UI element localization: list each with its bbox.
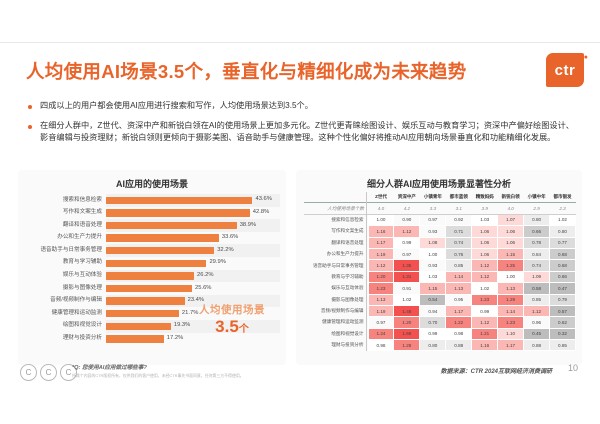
- average-cell: 3.1: [446, 203, 472, 214]
- table-cell: 1.22: [446, 317, 472, 328]
- table-title: 细分人群AI应用使用场景显著性分析: [296, 177, 582, 190]
- table-cell: 1.16: [368, 226, 394, 237]
- bar-label: 音频/视频制作与编辑: [18, 298, 106, 304]
- table-cell: 1.06: [472, 248, 498, 259]
- table-cell: 1.12: [368, 260, 394, 271]
- table-row: 搜索和信息检索1.000.900.970.921.031.070.801.02: [304, 214, 576, 225]
- table-cell: 1.09: [524, 271, 550, 282]
- table-cell: 0.80: [420, 340, 446, 351]
- table-cell: 0.96: [524, 317, 550, 328]
- table-cell: 1.14: [446, 271, 472, 282]
- bar-track: 32.2%: [106, 244, 286, 257]
- table-cell: 1.06: [498, 226, 524, 237]
- table-cell: 1.28: [394, 340, 420, 351]
- table-cell: 1.58: [394, 328, 420, 339]
- table-cell: 0.85: [446, 260, 472, 271]
- table-cell: 0.98: [368, 340, 394, 351]
- bar-label: 办公和生产力提升: [18, 235, 106, 241]
- table-cell: 0.32: [550, 328, 576, 339]
- table-cell: 0.68: [550, 260, 576, 271]
- table-cell: 0.90: [394, 214, 420, 225]
- bar: [106, 323, 171, 330]
- bar-row: 搜索和信息检索43.6%: [18, 194, 286, 207]
- bar-value: 17.2%: [167, 335, 183, 341]
- row-label: 绘图和视觉设计: [304, 328, 368, 339]
- bar-track: 26.2%: [106, 270, 286, 283]
- bar-value: 42.8%: [253, 209, 269, 215]
- table-cell: 1.21: [472, 328, 498, 339]
- bar-label: 翻译和语音处理: [18, 223, 106, 229]
- bar-row: 翻译和语音处理38.9%: [18, 219, 286, 232]
- bar-label: 语音助手与日常事务管理: [18, 248, 106, 254]
- table-cell: 0.57: [550, 305, 576, 316]
- table-cell: 0.95: [446, 294, 472, 305]
- table-cell: 0.74: [524, 260, 550, 271]
- table-row: 摄影与图像处理1.131.020.540.951.231.290.850.79: [304, 294, 576, 305]
- table-cell: 1.16: [472, 340, 498, 351]
- table-cell: 1.06: [498, 237, 524, 248]
- bar-value: 38.9%: [240, 222, 256, 228]
- table-cell: 0.99: [420, 328, 446, 339]
- table-cell: 1.13: [368, 294, 394, 305]
- bar-chart: 搜索和信息检索43.6%写作和文案生成42.8%翻译和语音处理38.9%办公和生…: [18, 194, 286, 362]
- table-row: 教育与学习辅助1.201.311.031.141.121.001.090.66: [304, 271, 576, 282]
- table-cell: 0.66: [550, 271, 576, 282]
- average-cell: 4.2: [394, 203, 420, 214]
- table-cell: 1.12: [394, 226, 420, 237]
- table-cell: 1.06: [472, 237, 498, 248]
- table-cell: 0.58: [524, 283, 550, 294]
- survey-question: *Q: 您使用AI应用做过哪些事?: [72, 363, 147, 371]
- row-label: 教育与学习辅助: [304, 271, 368, 282]
- table-cell: 0.88: [446, 340, 472, 351]
- column-header: 小镇中年: [524, 192, 550, 203]
- callout-label: 人均使用场景: [182, 302, 282, 317]
- table-wrapper: Z世代资深中产小镇青年都市蓝领精致妈妈新锐白领小镇中年都市银发人均使用场景个数4…: [304, 192, 576, 351]
- average-cell: 2.3: [550, 203, 576, 214]
- table-cell: 0.45: [524, 328, 550, 339]
- ctr-logo: ctr ●: [546, 53, 588, 91]
- bar: [106, 209, 250, 216]
- bar: [106, 285, 192, 292]
- column-header: 资深中产: [394, 192, 420, 203]
- column-header: 都市银发: [550, 192, 576, 203]
- table-cell: 0.79: [550, 294, 576, 305]
- bar: [106, 247, 214, 254]
- row-label: 娱乐与互动体验: [304, 283, 368, 294]
- bar-label: 写作和文案生成: [18, 210, 106, 216]
- bar-label: 教育与学习辅助: [18, 260, 106, 266]
- table-cell: 0.70: [420, 317, 446, 328]
- table-cell: 1.00: [498, 271, 524, 282]
- table-cell: 0.93: [420, 226, 446, 237]
- bar-track: 42.8%: [106, 207, 286, 220]
- bar-value: 29.9%: [209, 259, 225, 265]
- column-header: 精致妈妈: [472, 192, 498, 203]
- bar-label: 娱乐与互动体验: [18, 273, 106, 279]
- table-row: 理财与投资分析0.981.280.800.881.161.170.880.85: [304, 340, 576, 351]
- table-cell: 1.06: [472, 226, 498, 237]
- table-cell: 0.97: [394, 248, 420, 259]
- table-row: 语音助手与日常事务管理1.121.350.930.851.121.250.740…: [304, 260, 576, 271]
- table-cell: 0.99: [472, 305, 498, 316]
- table-cell: 0.68: [550, 248, 576, 259]
- table-cell: 1.03: [472, 214, 498, 225]
- table-cell: 1.23: [368, 283, 394, 294]
- table-cell: 1.07: [498, 214, 524, 225]
- significance-table: Z世代资深中产小镇青年都市蓝领精致妈妈新锐白领小镇中年都市银发人均使用场景个数4…: [304, 192, 576, 351]
- table-header-row: Z世代资深中产小镇青年都市蓝领精致妈妈新锐白领小镇中年都市银发: [304, 192, 576, 203]
- bar-value: 33.6%: [222, 234, 238, 240]
- table-cell: 0.47: [550, 283, 576, 294]
- bullet-list: 四成以上的用户都会使用AI应用进行搜索和写作，人均使用场景达到3.5个。 在细分…: [26, 100, 574, 152]
- row-label: 办公和生产力提升: [304, 248, 368, 259]
- table-cell: 1.12: [472, 260, 498, 271]
- page-title: 人均使用AI场景3.5个，垂直化与精细化成为未来趋势: [26, 58, 467, 84]
- table-cell: 0.62: [550, 317, 576, 328]
- column-header: Z世代: [368, 192, 394, 203]
- table-cell: 1.29: [498, 294, 524, 305]
- table-cell: 1.12: [472, 271, 498, 282]
- bar-label: 搜索和信息检索: [18, 198, 106, 204]
- bar-row: 摄影与图像处理25.6%: [18, 282, 286, 295]
- table-cell: 1.15: [420, 283, 446, 294]
- table-cell: 0.98: [446, 328, 472, 339]
- table-cell: 1.17: [498, 340, 524, 351]
- table-cell: 1.19: [368, 248, 394, 259]
- bar: [106, 297, 185, 304]
- column-header: 小镇青年: [420, 192, 446, 203]
- table-cell: 0.74: [446, 237, 472, 248]
- table-cell: 1.02: [472, 283, 498, 294]
- table-cell: 1.10: [498, 328, 524, 339]
- bar-track: 25.6%: [106, 282, 286, 295]
- bar: [106, 335, 164, 342]
- callout-unit: 个: [239, 324, 249, 335]
- table-cell: 1.13: [446, 283, 472, 294]
- table-cell: 1.15: [498, 248, 524, 259]
- average-cell: 2.9: [524, 203, 550, 214]
- table-cell: 0.97: [420, 214, 446, 225]
- table-cell: 0.99: [394, 237, 420, 248]
- table-cell: 0.91: [394, 283, 420, 294]
- bar-label: 摄影与图像处理: [18, 286, 106, 292]
- table-divider: [366, 192, 367, 351]
- table-cell: 0.80: [550, 226, 576, 237]
- bar-value: 32.2%: [217, 247, 233, 253]
- bar-label: 健康管理和运动监测: [18, 311, 106, 317]
- bar: [106, 234, 219, 241]
- table-row: 音频/视频制作与编辑1.191.480.941.170.991.141.120.…: [304, 305, 576, 316]
- bar-track: 29.9%: [106, 257, 286, 270]
- bullet-text: 在细分人群中，Z世代、资深中产和新锐白领在AI的使用场景上更加多元化。Z世代更青…: [40, 120, 574, 145]
- average-cell: 4.0: [368, 203, 394, 214]
- table-cell: 0.66: [524, 226, 550, 237]
- bar: [106, 222, 237, 229]
- table-cell: 1.02: [394, 294, 420, 305]
- bar-value: 43.6%: [255, 196, 271, 202]
- table-cell: 1.20: [368, 271, 394, 282]
- table-cell: 0.54: [420, 294, 446, 305]
- bar-value: 25.6%: [195, 285, 211, 291]
- column-header: 都市蓝领: [446, 192, 472, 203]
- table-cell: 1.23: [498, 317, 524, 328]
- table-cell: 1.17: [368, 237, 394, 248]
- table-cell: 1.19: [368, 305, 394, 316]
- table-cell: 1.25: [498, 260, 524, 271]
- table-cell: 1.24: [368, 328, 394, 339]
- bar-label: 绘图和视觉设计: [18, 323, 106, 329]
- table-cell: 0.93: [420, 260, 446, 271]
- row-label: 写作和文案生成: [304, 226, 368, 237]
- callout-number: 3.5: [215, 317, 239, 336]
- list-item: 在细分人群中，Z世代、资深中产和新锐白领在AI的使用场景上更加多元化。Z世代更青…: [26, 120, 574, 145]
- page-number: 10: [568, 363, 578, 373]
- bar-row: 语音助手与日常事务管理32.2%: [18, 244, 286, 257]
- table-cell: 0.92: [446, 214, 472, 225]
- table-cell: 1.12: [472, 317, 498, 328]
- bullet-text: 四成以上的用户都会使用AI应用进行搜索和写作，人均使用场景达到3.5个。: [40, 100, 574, 113]
- table-cell: 0.88: [524, 340, 550, 351]
- logo-registered-mark: ●: [584, 54, 588, 61]
- table-cell: 0.94: [420, 305, 446, 316]
- slide: ctr ● 人均使用AI场景3.5个，垂直化与精细化成为未来趋势 四成以上的用户…: [0, 0, 600, 424]
- table-cell: 0.84: [524, 248, 550, 259]
- bar-row: 办公和生产力提升33.6%: [18, 232, 286, 245]
- table-cell: 1.23: [472, 294, 498, 305]
- row-label: 理财与投资分析: [304, 340, 368, 351]
- table-cell: 1.48: [394, 305, 420, 316]
- table-corner: [304, 192, 368, 203]
- significance-table-panel: 细分人群AI应用使用场景显著性分析 Z世代资深中产小镇青年都市蓝领精致妈妈新锐白…: [296, 170, 582, 365]
- table-cell: 0.80: [524, 214, 550, 225]
- copyright-icon: C: [40, 364, 57, 381]
- bar-track: 38.9%: [106, 219, 286, 232]
- bar-chart-title: AI应用的使用场景: [18, 177, 286, 190]
- table-cell: 1.00: [420, 248, 446, 259]
- row-label: 健康管理和运动监测: [304, 317, 368, 328]
- table-cell: 1.03: [420, 271, 446, 282]
- table-cell: 1.12: [524, 305, 550, 316]
- average-scenes-callout: 人均使用场景 3.5个: [182, 302, 282, 336]
- table-row: 健康管理和运动监测0.971.200.701.221.121.230.960.6…: [304, 317, 576, 328]
- logo-text: ctr: [546, 53, 584, 87]
- bar-track: 33.6%: [106, 232, 286, 245]
- bar-row: 娱乐与互动体验26.2%: [18, 270, 286, 283]
- bar: [106, 260, 206, 267]
- table-row: 写作和文案生成1.161.120.930.711.061.060.660.80: [304, 226, 576, 237]
- bar: [106, 272, 194, 279]
- table-cell: 1.17: [446, 305, 472, 316]
- table-cell: 1.02: [550, 214, 576, 225]
- bar-value: 26.2%: [197, 272, 213, 278]
- row-label: 搜索和信息检索: [304, 214, 368, 225]
- table-cell: 1.08: [420, 237, 446, 248]
- table-cell: 0.85: [524, 294, 550, 305]
- callout-value: 3.5个: [182, 318, 282, 336]
- table-cell: 0.71: [446, 226, 472, 237]
- copyright-icon: C: [20, 364, 37, 381]
- row-label: 音频/视频制作与编辑: [304, 305, 368, 316]
- table-cell: 0.78: [524, 237, 550, 248]
- table-cell: 1.14: [498, 305, 524, 316]
- average-row: 人均使用场景个数4.04.23.33.13.94.02.92.3: [304, 203, 576, 214]
- table-cell: 1.35: [394, 260, 420, 271]
- average-cell: 4.0: [498, 203, 524, 214]
- bar-row: 教育与学习辅助29.9%: [18, 257, 286, 270]
- bar: [106, 310, 179, 317]
- table-cell: 0.85: [550, 340, 576, 351]
- bar-track: 43.6%: [106, 194, 286, 207]
- column-header: 新锐白领: [498, 192, 524, 203]
- table-row: 翻译和语音处理1.170.991.080.741.061.060.780.77: [304, 237, 576, 248]
- data-source: 数据来源：CTR 2024互联网经济消费调研: [441, 366, 552, 375]
- bar-row: 写作和文案生成42.8%: [18, 207, 286, 220]
- row-label: 翻译和语音处理: [304, 237, 368, 248]
- bar: [106, 197, 252, 204]
- header-divider: [0, 42, 600, 43]
- row-label: 语音助手与日常事务管理: [304, 260, 368, 271]
- table-cell: 1.00: [368, 214, 394, 225]
- average-cell: 3.3: [420, 203, 446, 214]
- table-cell: 1.20: [394, 317, 420, 328]
- table-cell: 0.97: [368, 317, 394, 328]
- table-row: 绘图和视觉设计1.241.580.990.981.211.100.450.32: [304, 328, 576, 339]
- bar-label: 理财与投资分析: [18, 336, 106, 342]
- table-cell: 1.13: [498, 283, 524, 294]
- table-cell: 1.31: [394, 271, 420, 282]
- copyright-icons: C C C: [20, 364, 77, 381]
- table-row: 办公和生产力提升1.190.971.000.761.061.150.840.68: [304, 248, 576, 259]
- table-cell: 0.76: [446, 248, 472, 259]
- list-item: 四成以上的用户都会使用AI应用进行搜索和写作，人均使用场景达到3.5个。: [26, 100, 574, 113]
- row-label: 摄影与图像处理: [304, 294, 368, 305]
- row-label: 人均使用场景个数: [304, 203, 368, 214]
- table-row: 娱乐与互动体验1.230.911.151.131.021.130.580.47: [304, 283, 576, 294]
- table-cell: 0.77: [550, 237, 576, 248]
- copyright-note: 所属个内容的CTR版权所有，仅供我们的客户使用，未经CTR事先书面同意，任何第三…: [72, 373, 244, 379]
- average-cell: 3.9: [472, 203, 498, 214]
